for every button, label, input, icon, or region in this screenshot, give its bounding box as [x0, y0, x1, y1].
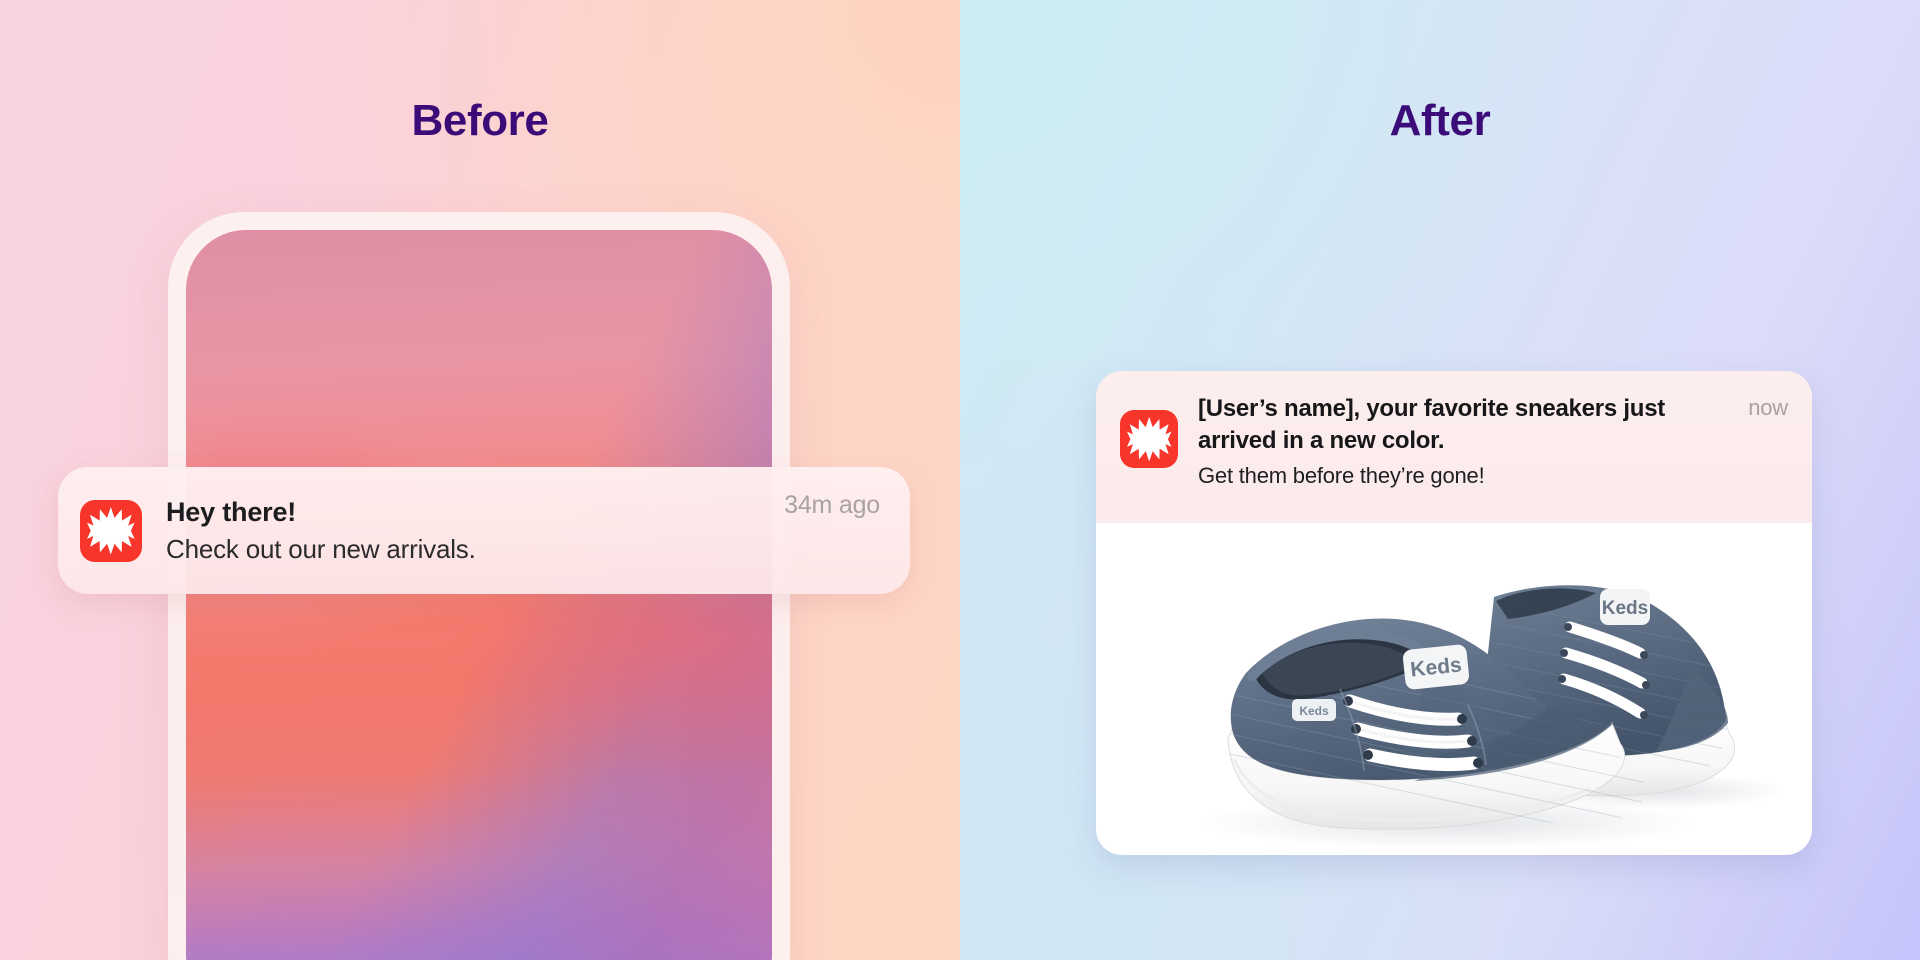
notification-timestamp: now [1748, 395, 1788, 421]
notification-card-before[interactable]: Hey there! Check out our new arrivals. 3… [58, 467, 910, 594]
starburst-icon [80, 500, 142, 562]
starburst-icon [1120, 410, 1178, 468]
notification-body-before: Hey there! Check out our new arrivals. [166, 496, 784, 566]
notification-title: [User’s name], your favorite sneakers ju… [1198, 393, 1734, 456]
panel-before: Before Hey there! Check out our new arri… [0, 0, 960, 960]
notification-title: Hey there! [166, 496, 784, 529]
comparison-stage: Before Hey there! Check out our new arri… [0, 0, 1920, 960]
notification-timestamp: 34m ago [784, 491, 880, 520]
notification-subtitle: Get them before they’re gone! [1198, 462, 1734, 491]
svg-text:Keds: Keds [1299, 704, 1329, 718]
notification-product-image: Pair of Keds denim canvas sneakers with … [1096, 523, 1812, 855]
phone-screen-before [186, 230, 772, 960]
notification-body-after: [User’s name], your favorite sneakers ju… [1198, 393, 1734, 491]
product-brand-label: Keds [1602, 598, 1648, 619]
notification-header-after: [User’s name], your favorite sneakers ju… [1096, 371, 1812, 523]
after-panel-title: After [960, 96, 1920, 146]
notification-card-after[interactable]: [User’s name], your favorite sneakers ju… [1096, 371, 1812, 855]
notification-subtitle: Check out our new arrivals. [166, 534, 784, 566]
before-panel-title: Before [0, 96, 960, 146]
